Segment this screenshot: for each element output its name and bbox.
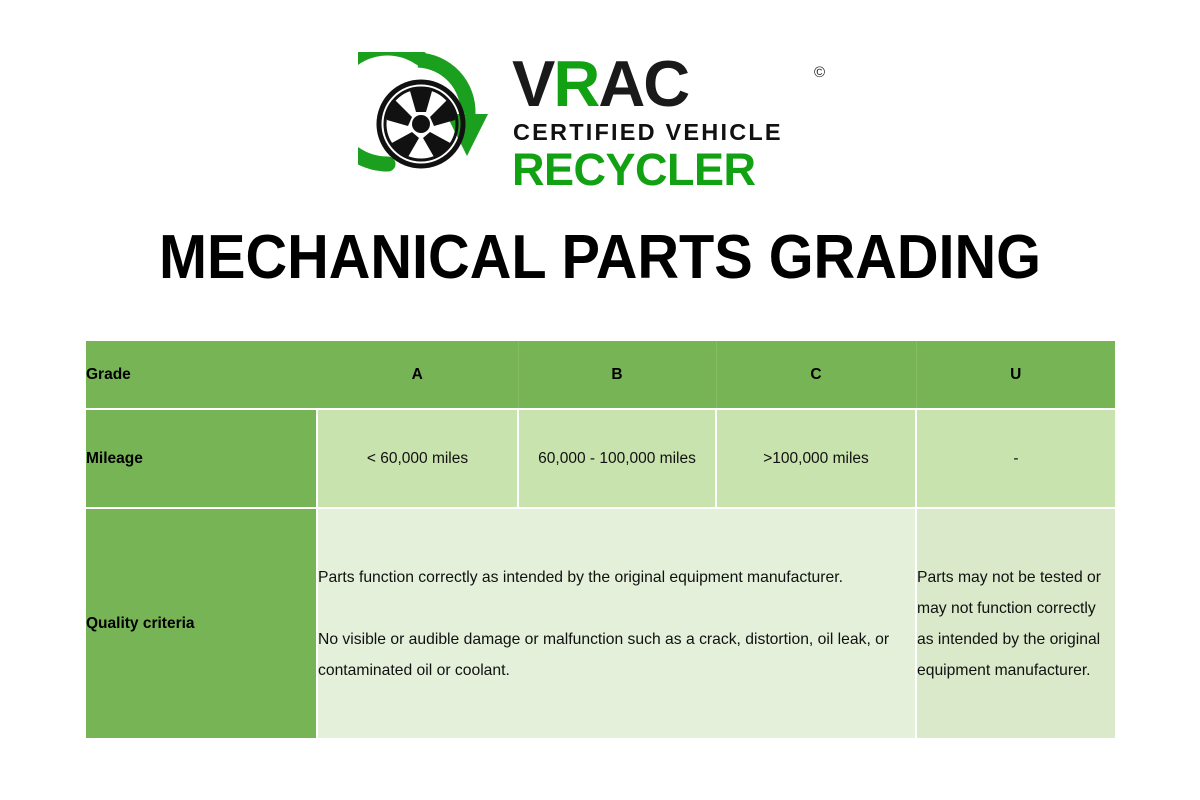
quality-paragraph-1: Parts function correctly as intended by … [318, 562, 915, 593]
table-row-mileage: Mileage < 60,000 miles 60,000 - 100,000 … [86, 409, 1115, 508]
page-title: MECHANICAL PARTS GRADING [42, 222, 1158, 293]
mechanical-parts-grading-table: Grade A B C U Mileage < 60,000 miles 60,… [86, 341, 1115, 738]
header-cell-c: C [716, 341, 916, 409]
mileage-cell-b: 60,000 - 100,000 miles [518, 409, 716, 508]
logo-recycler-text: RECYCLER [512, 144, 756, 196]
logo-wordmark: VRAC [512, 52, 688, 116]
wordmark-r: R [553, 47, 598, 120]
mileage-cell-u: - [916, 409, 1115, 508]
table-row-quality-criteria: Quality criteria Parts function correctl… [86, 508, 1115, 738]
logo-inner: VRAC © CERTIFIED VEHICLE RECYCLER [358, 52, 842, 194]
wordmark-v: V [512, 47, 553, 120]
table-header-row: Grade A B C U [86, 341, 1115, 409]
header-cell-a: A [317, 341, 518, 409]
mileage-cell-c: >100,000 miles [716, 409, 916, 508]
quality-paragraph-2: No visible or audible damage or malfunct… [318, 624, 915, 686]
copyright-icon: © [814, 64, 825, 81]
logo-subline: CERTIFIED VEHICLE [513, 119, 783, 146]
logo-wordmark-group: VRAC © CERTIFIED VEHICLE RECYCLER [512, 56, 842, 191]
quality-cell-u: Parts may not be tested or may not funct… [916, 508, 1115, 738]
header-cell-grade: Grade [86, 341, 317, 409]
header-cell-b: B [518, 341, 716, 409]
mileage-cell-a: < 60,000 miles [317, 409, 518, 508]
row-label-quality-criteria: Quality criteria [86, 508, 317, 738]
quality-cell-abc: Parts function correctly as intended by … [317, 508, 916, 738]
recycling-wheel-icon [358, 52, 506, 194]
vrac-logo: VRAC © CERTIFIED VEHICLE RECYCLER [0, 52, 1200, 202]
row-label-mileage: Mileage [86, 409, 317, 508]
wordmark-ac: AC [598, 47, 688, 120]
header-cell-u: U [916, 341, 1115, 409]
